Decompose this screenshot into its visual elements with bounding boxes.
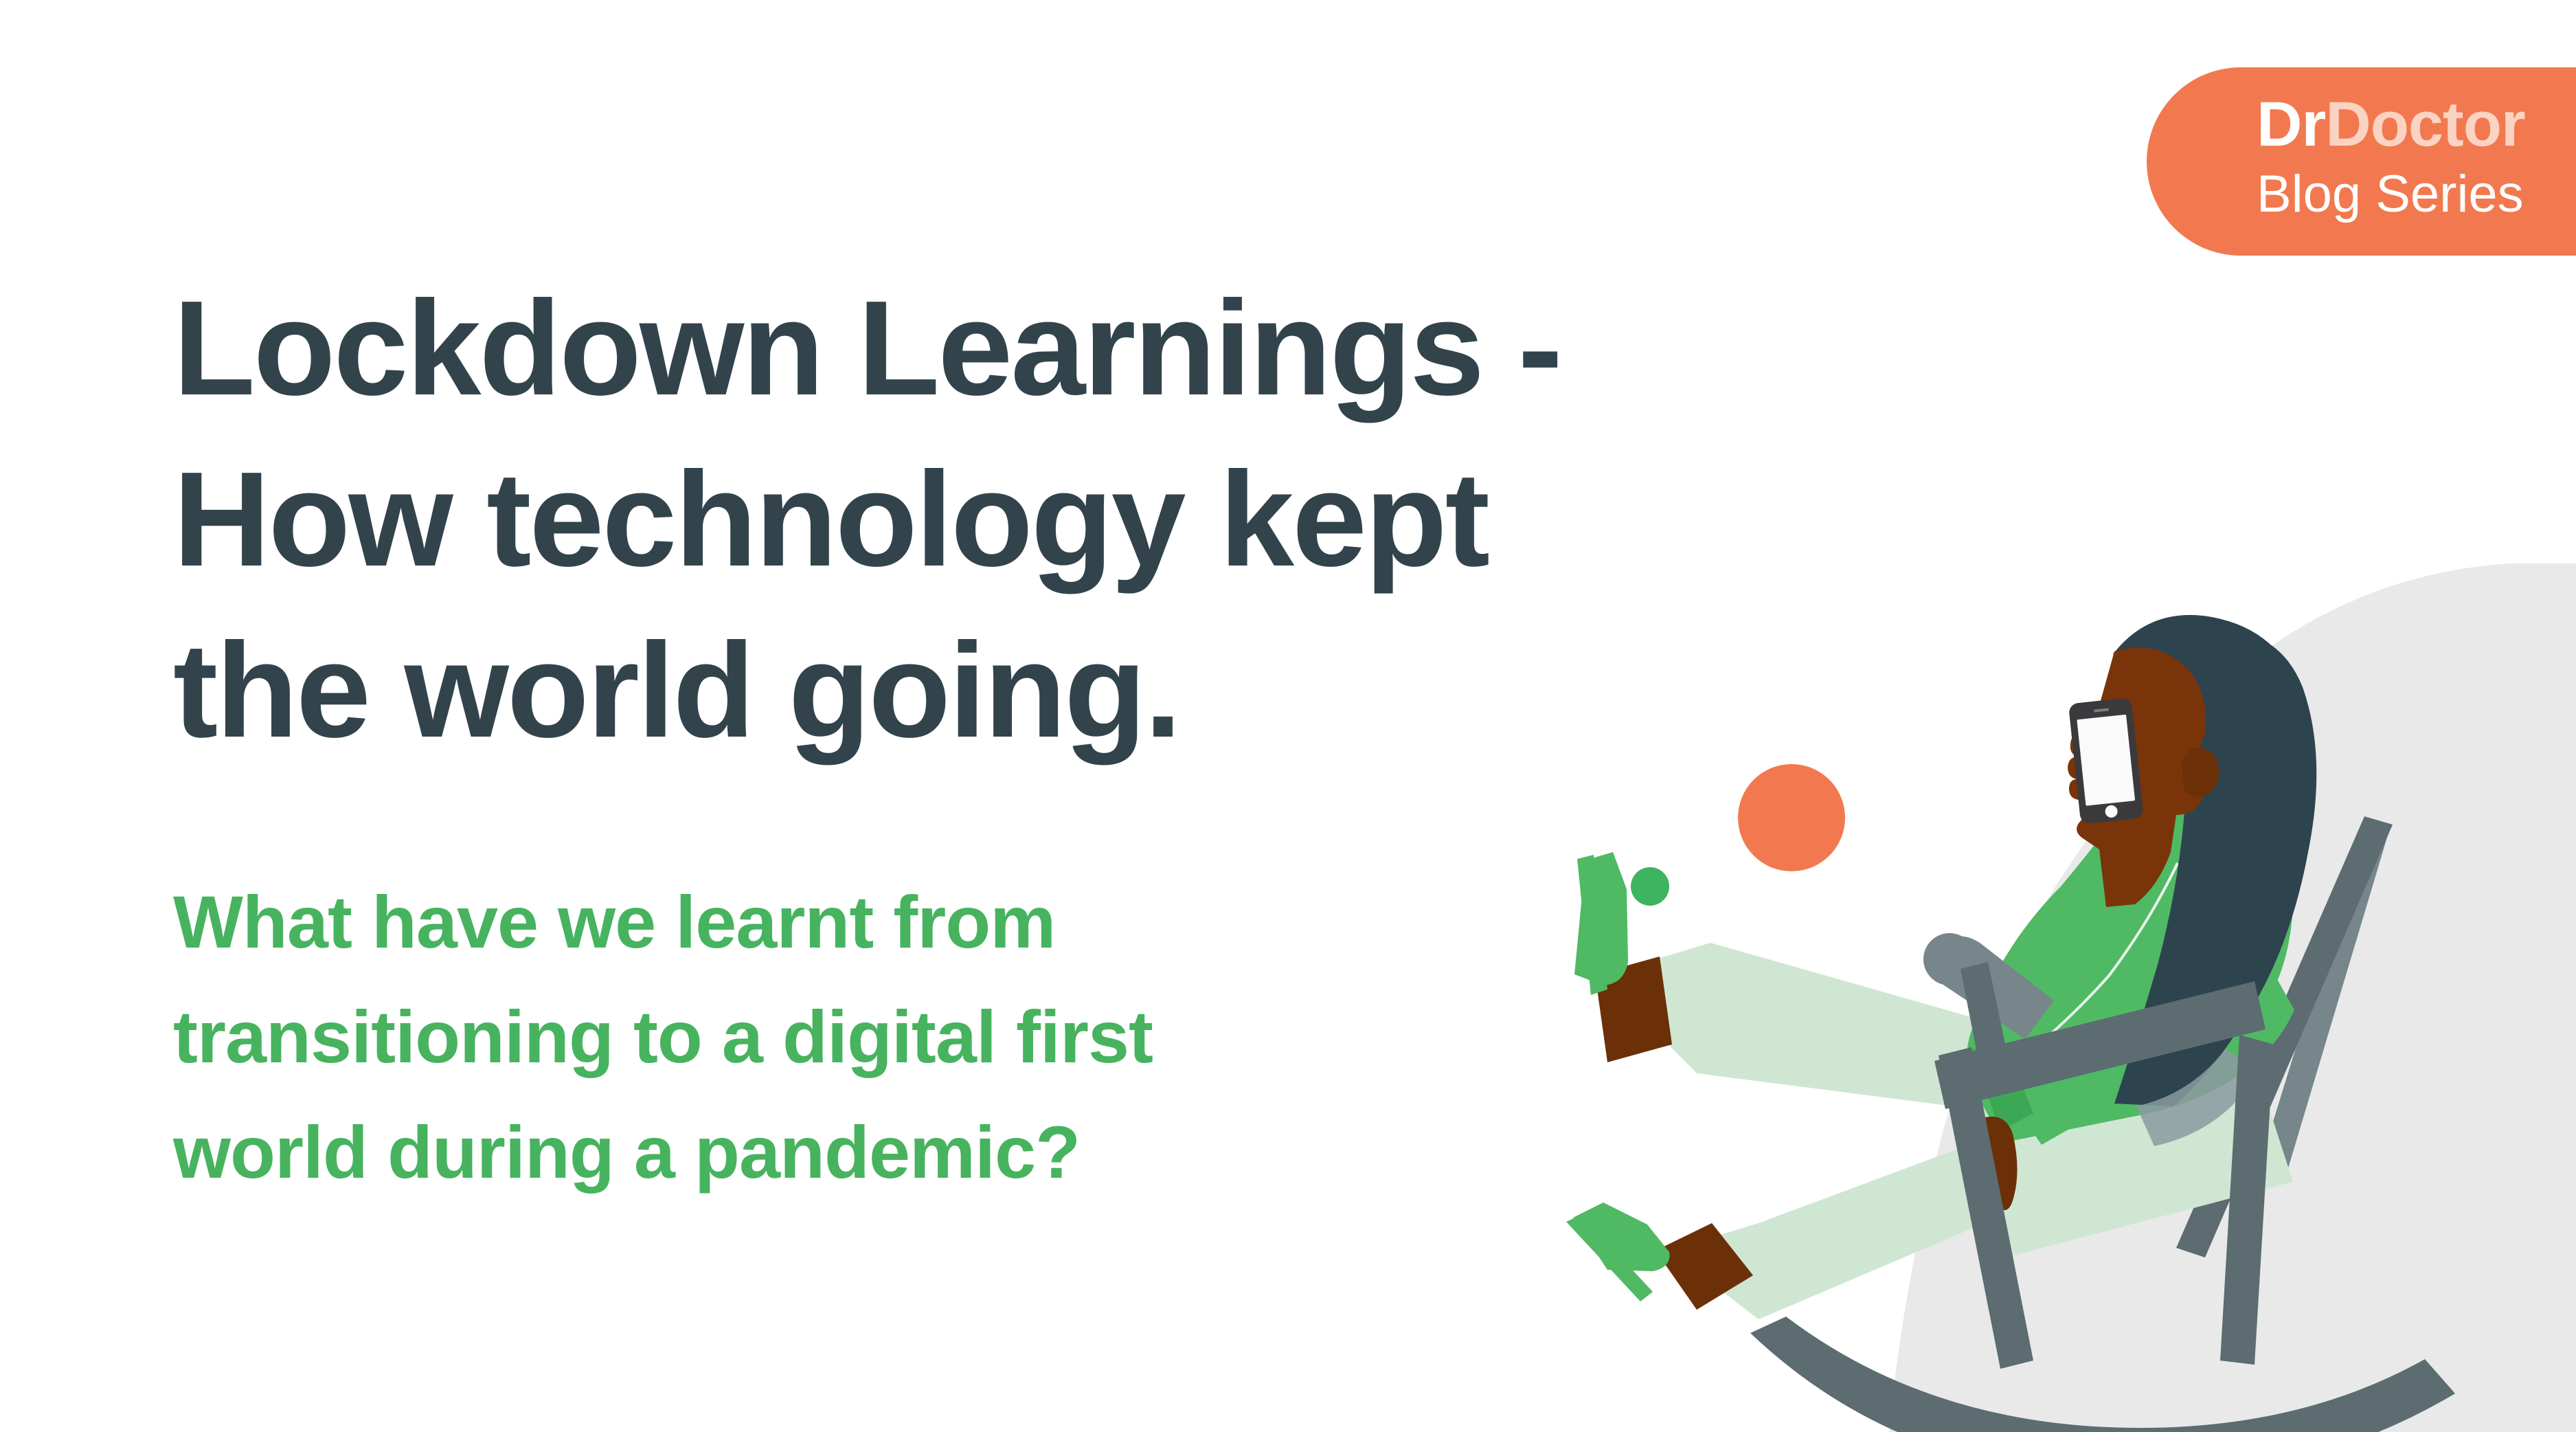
- blog-banner-canvas: Lockdown Learnings - How technology kept…: [0, 0, 2576, 1432]
- headline-line-2: How technology kept: [173, 434, 2062, 605]
- accent-circle-orange: [1738, 764, 1845, 871]
- brand-badge: DrDoctor Blog Series: [2147, 67, 2576, 256]
- subtitle-line-1: What have we learnt from: [173, 864, 1684, 979]
- page-subtitle: What have we learnt from transitioning t…: [173, 864, 1684, 1209]
- brand-logo: DrDoctor: [2257, 91, 2576, 159]
- headline-line-1: Lockdown Learnings -: [173, 263, 2062, 434]
- page-title: Lockdown Learnings - How technology kept…: [173, 263, 2062, 776]
- subtitle-line-2: transitioning to a digital first: [173, 979, 1684, 1094]
- brand-series-label: Blog Series: [2257, 164, 2576, 224]
- brand-logo-prefix: Dr: [2257, 89, 2325, 159]
- phone-screen: [2077, 715, 2135, 806]
- brand-logo-suffix: Doctor: [2325, 89, 2524, 159]
- headline-line-3: the world going.: [173, 605, 2062, 776]
- subtitle-line-3: world during a pandemic?: [173, 1095, 1684, 1209]
